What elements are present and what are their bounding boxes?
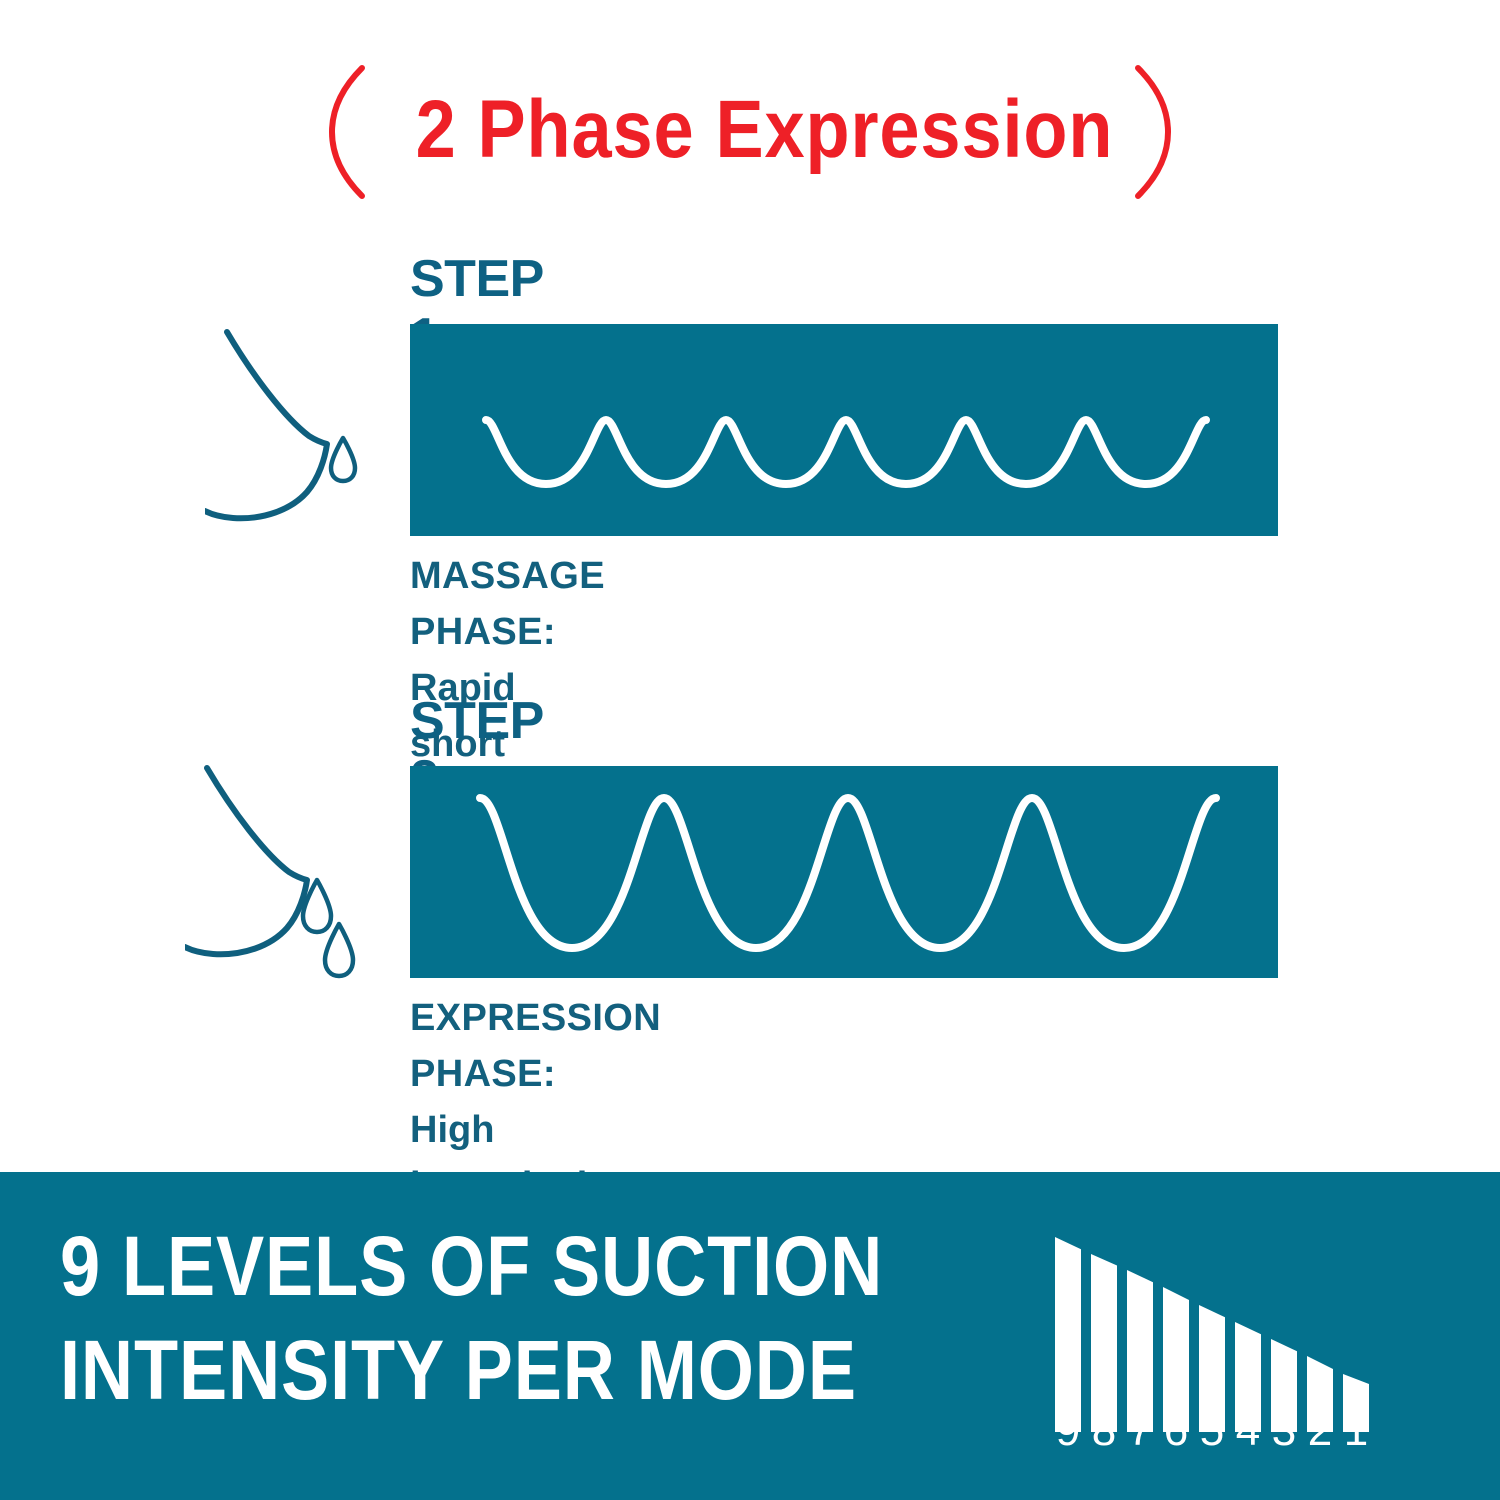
suction-level-number: 7	[1122, 1404, 1158, 1458]
page-title: 2 Phase Expression	[416, 76, 1085, 184]
right-bracket-icon	[1132, 62, 1178, 202]
banner-headline-line-2: INTENSITY PER MODE	[60, 1318, 920, 1422]
banner-headline-line-1: 9 LEVELS OF SUCTION	[60, 1214, 920, 1318]
suction-level-number: 8	[1086, 1404, 1122, 1458]
banner-headline: 9 LEVELS OF SUCTION INTENSITY PER MODE	[60, 1214, 920, 1422]
breast-with-two-droplets-icon	[185, 764, 375, 984]
suction-level-bar	[1055, 1237, 1081, 1432]
suction-level-number: 6	[1158, 1404, 1194, 1458]
suction-level-number: 2	[1302, 1404, 1338, 1458]
step-2-caption-title: EXPRESSION PHASE:	[410, 990, 661, 1102]
suction-level-number: 9	[1050, 1404, 1086, 1458]
suction-level-number: 1	[1338, 1404, 1374, 1458]
suction-level-number: 4	[1230, 1404, 1266, 1458]
expression-phase-waveform	[410, 766, 1278, 978]
left-bracket-icon	[322, 62, 368, 202]
step-1-wave-box	[410, 324, 1278, 536]
suction-level-number: 3	[1266, 1404, 1302, 1458]
step-1-caption-title: MASSAGE PHASE:	[410, 548, 605, 660]
step-2-wave-box	[410, 766, 1278, 978]
page-title-block: 2 Phase Expression	[0, 62, 1500, 202]
massage-phase-waveform	[410, 324, 1278, 536]
suction-levels-axis-labels: 987654321	[1055, 1404, 1415, 1464]
breast-with-one-droplet-icon	[205, 328, 375, 528]
suction-level-number: 5	[1194, 1404, 1230, 1458]
